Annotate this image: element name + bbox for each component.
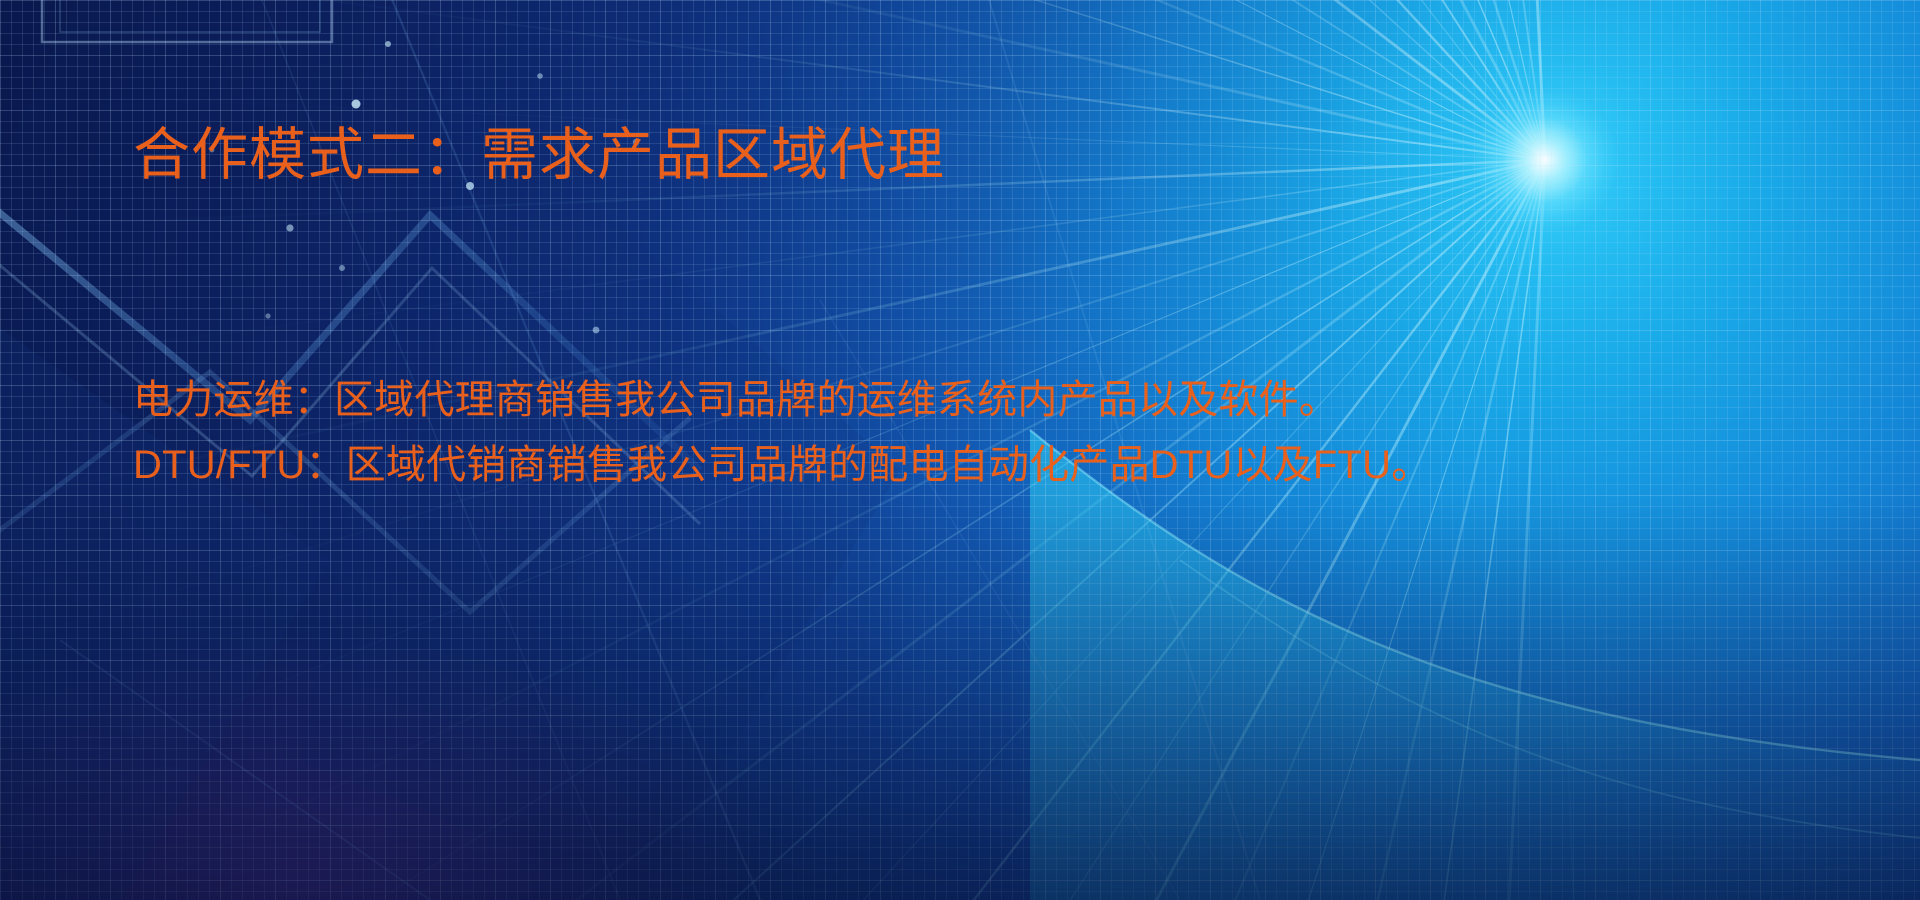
slide-canvas: 合作模式二：需求产品区域代理 电力运维：区域代理商销售我公司品牌的运维系统内产品…	[0, 0, 1920, 900]
slide-content: 合作模式二：需求产品区域代理 电力运维：区域代理商销售我公司品牌的运维系统内产品…	[0, 0, 1920, 900]
body-line-power-ops: 电力运维：区域代理商销售我公司品牌的运维系统内产品以及软件。	[133, 368, 1853, 433]
body-line-dtu-ftu: DTU/FTU：区域代销商销售我公司品牌的配电自动化产品DTU以及FTU。	[133, 433, 1853, 498]
slide-body: 电力运维：区域代理商销售我公司品牌的运维系统内产品以及软件。 DTU/FTU：区…	[133, 368, 1853, 498]
slide-title: 合作模式二：需求产品区域代理	[133, 124, 945, 188]
